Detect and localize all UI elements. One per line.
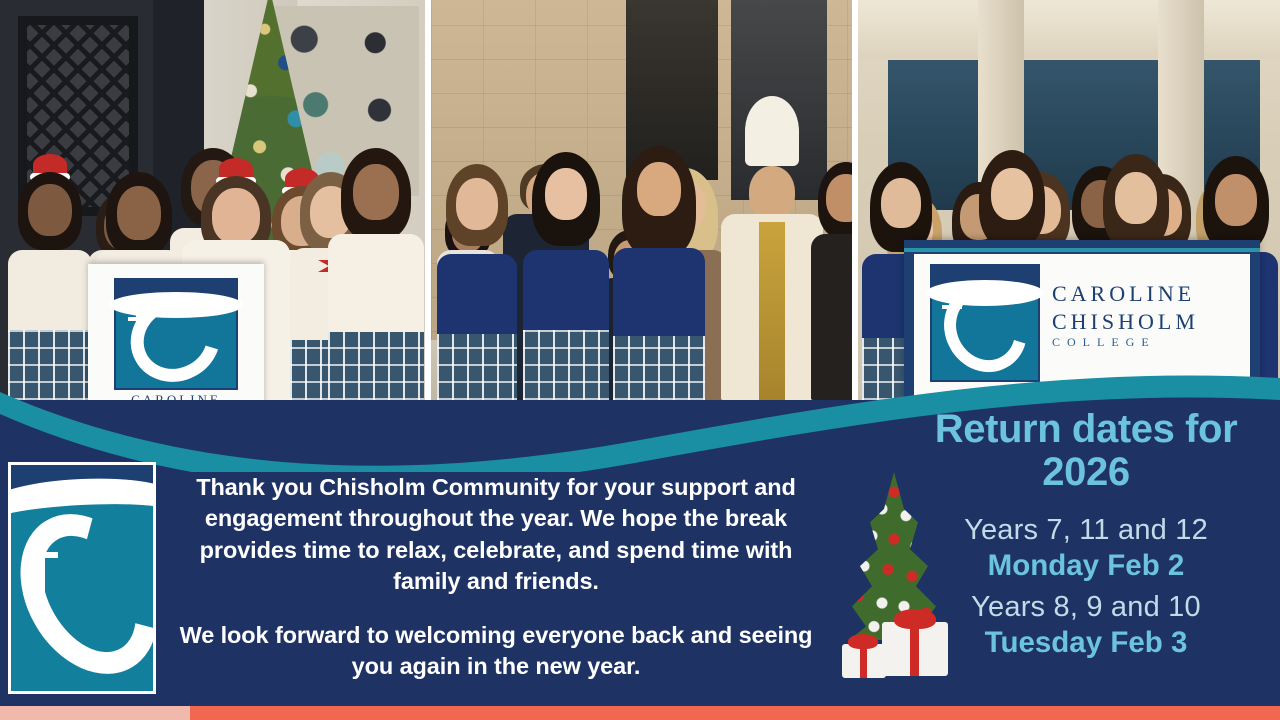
person-student [523, 148, 609, 400]
banner-teal-rule [904, 248, 1260, 252]
return-row-years: Years 8, 9 and 10 [900, 589, 1272, 625]
photo-christmas-group: CAROLINE CHISHOLM [0, 0, 425, 400]
college-logo [8, 462, 156, 694]
bishop-stole [759, 222, 785, 400]
gift-bow [894, 609, 936, 629]
banner-line-2: CHISHOLM [1052, 308, 1242, 336]
person-bishop [721, 108, 823, 400]
banner-line-1: CAROLINE [131, 392, 221, 400]
return-dates-title: Return dates for 2026 [900, 408, 1272, 494]
strip-segment-coral [190, 706, 1280, 720]
message-paragraph-1: Thank you Chisholm Community for your su… [166, 472, 826, 598]
person [8, 154, 92, 400]
gift-box-large [882, 622, 948, 676]
person-student [437, 154, 517, 400]
held-banner-photo1: CAROLINE CHISHOLM [88, 264, 264, 400]
strip-segment-pink [0, 706, 190, 720]
photo-strip: CAROLINE CHISHOLM [0, 0, 1280, 400]
return-dates-block: Return dates for 2026 Years 7, 11 and 12… [900, 408, 1272, 666]
person [328, 144, 424, 400]
gift-bow [848, 634, 878, 649]
return-dates-rows: Years 7, 11 and 12 Monday Feb 2 Years 8,… [900, 512, 1272, 662]
bottom-accent-strip [0, 706, 1280, 720]
bishop-mitre [745, 96, 799, 166]
person-staff [811, 156, 852, 400]
congregation-group [431, 100, 852, 400]
message-paragraph-2: We look forward to welcoming everyone ba… [166, 620, 826, 683]
thank-you-message: Thank you Chisholm Community for your su… [166, 472, 826, 683]
photo-banner-group: CAROLINE CHISHOLM COLLEGE [858, 0, 1280, 400]
poster-canvas: CAROLINE CHISHOLM [0, 0, 1280, 720]
held-banner-photo3: CAROLINE CHISHOLM COLLEGE [904, 240, 1260, 400]
banner-line-1: CAROLINE [1052, 281, 1195, 306]
banner-line-3: COLLEGE [1052, 335, 1242, 350]
cross-icon [39, 537, 45, 595]
photo-church-bishop [431, 0, 852, 400]
christmas-tree-icon [836, 472, 952, 684]
return-row-years: Years 7, 11 and 12 [900, 512, 1272, 548]
person-student [613, 144, 705, 400]
gift-box-small [842, 644, 886, 678]
banner-white-field: CAROLINE CHISHOLM COLLEGE [914, 254, 1250, 400]
return-row-date: Monday Feb 2 [900, 548, 1272, 585]
return-row-date: Tuesday Feb 3 [900, 625, 1272, 662]
entrance-canopy [858, 0, 1280, 58]
